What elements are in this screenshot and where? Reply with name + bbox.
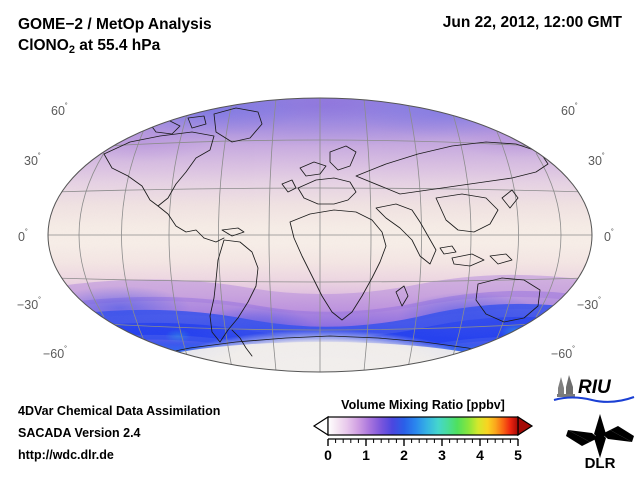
map-container: 60˚ 30˚ 0˚ −30˚ −60˚ 60˚ 30˚ 0˚ −30˚ −60… bbox=[0, 80, 640, 380]
colorbar-gradient-bar bbox=[328, 417, 518, 435]
dlr-pinwheel-icon bbox=[566, 414, 634, 458]
lat-label-right-m30: −30˚ bbox=[577, 296, 601, 312]
timestamp-label: Jun 22, 2012, 12:00 GMT bbox=[443, 14, 622, 32]
colorbar-tick-label: 2 bbox=[400, 447, 408, 463]
footer-text-block: 4DVar Chemical Data Assimilation SACADA … bbox=[18, 400, 220, 466]
riu-wordmark: RIU bbox=[578, 377, 612, 398]
colorbar-tick-label: 0 bbox=[324, 447, 332, 463]
lat-label-left-30: 30˚ bbox=[24, 152, 41, 168]
lat-label-left-60: 60˚ bbox=[51, 102, 68, 118]
figure-canvas: GOME−2 / MetOp Analysis ClONO2 at 55.4 h… bbox=[0, 0, 640, 480]
species-subscript: 2 bbox=[69, 44, 75, 56]
riu-spires-icon bbox=[557, 375, 575, 397]
species-title: ClONO2 at 55.4 hPa bbox=[18, 35, 378, 58]
dlr-logo: DLR bbox=[562, 410, 638, 470]
lat-label-right-30: 30˚ bbox=[588, 152, 605, 168]
colorbar-tick-labels: 012345 bbox=[324, 447, 522, 463]
page-title: GOME−2 / MetOp Analysis bbox=[18, 14, 378, 35]
riu-logo: RIU bbox=[552, 374, 636, 404]
lat-label-left-m30: −30˚ bbox=[17, 296, 41, 312]
world-map bbox=[0, 80, 640, 380]
lat-label-right-0: 0˚ bbox=[604, 228, 614, 244]
footer-method: 4DVar Chemical Data Assimilation bbox=[18, 400, 220, 422]
title-block: GOME−2 / MetOp Analysis ClONO2 at 55.4 h… bbox=[18, 14, 378, 58]
lat-label-right-m60: −60˚ bbox=[551, 345, 575, 361]
colorbar-ticks bbox=[328, 439, 518, 446]
species-level: at 55.4 hPa bbox=[75, 37, 160, 54]
colorbar-tick-label: 5 bbox=[514, 447, 522, 463]
lat-label-right-60: 60˚ bbox=[561, 102, 578, 118]
colorbar-tick-label: 3 bbox=[438, 447, 446, 463]
colorbar-under-cap bbox=[314, 417, 328, 435]
footer-url[interactable]: http://wdc.dlr.de bbox=[18, 444, 220, 466]
species-name: ClONO bbox=[18, 37, 69, 54]
footer-version: SACADA Version 2.4 bbox=[18, 422, 220, 444]
colorbar-tick-label: 4 bbox=[476, 447, 484, 463]
colorbar: Volume Mixing Ratio [ppbv] 012345 bbox=[312, 398, 534, 463]
colorbar-tick-label: 1 bbox=[362, 447, 370, 463]
colorbar-scale: 012345 bbox=[312, 415, 534, 463]
lat-label-left-m60: −60˚ bbox=[43, 345, 67, 361]
colorbar-title: Volume Mixing Ratio [ppbv] bbox=[312, 398, 534, 412]
colorbar-over-cap bbox=[518, 417, 532, 435]
dlr-wordmark: DLR bbox=[585, 455, 616, 470]
lat-label-left-0: 0˚ bbox=[18, 228, 28, 244]
